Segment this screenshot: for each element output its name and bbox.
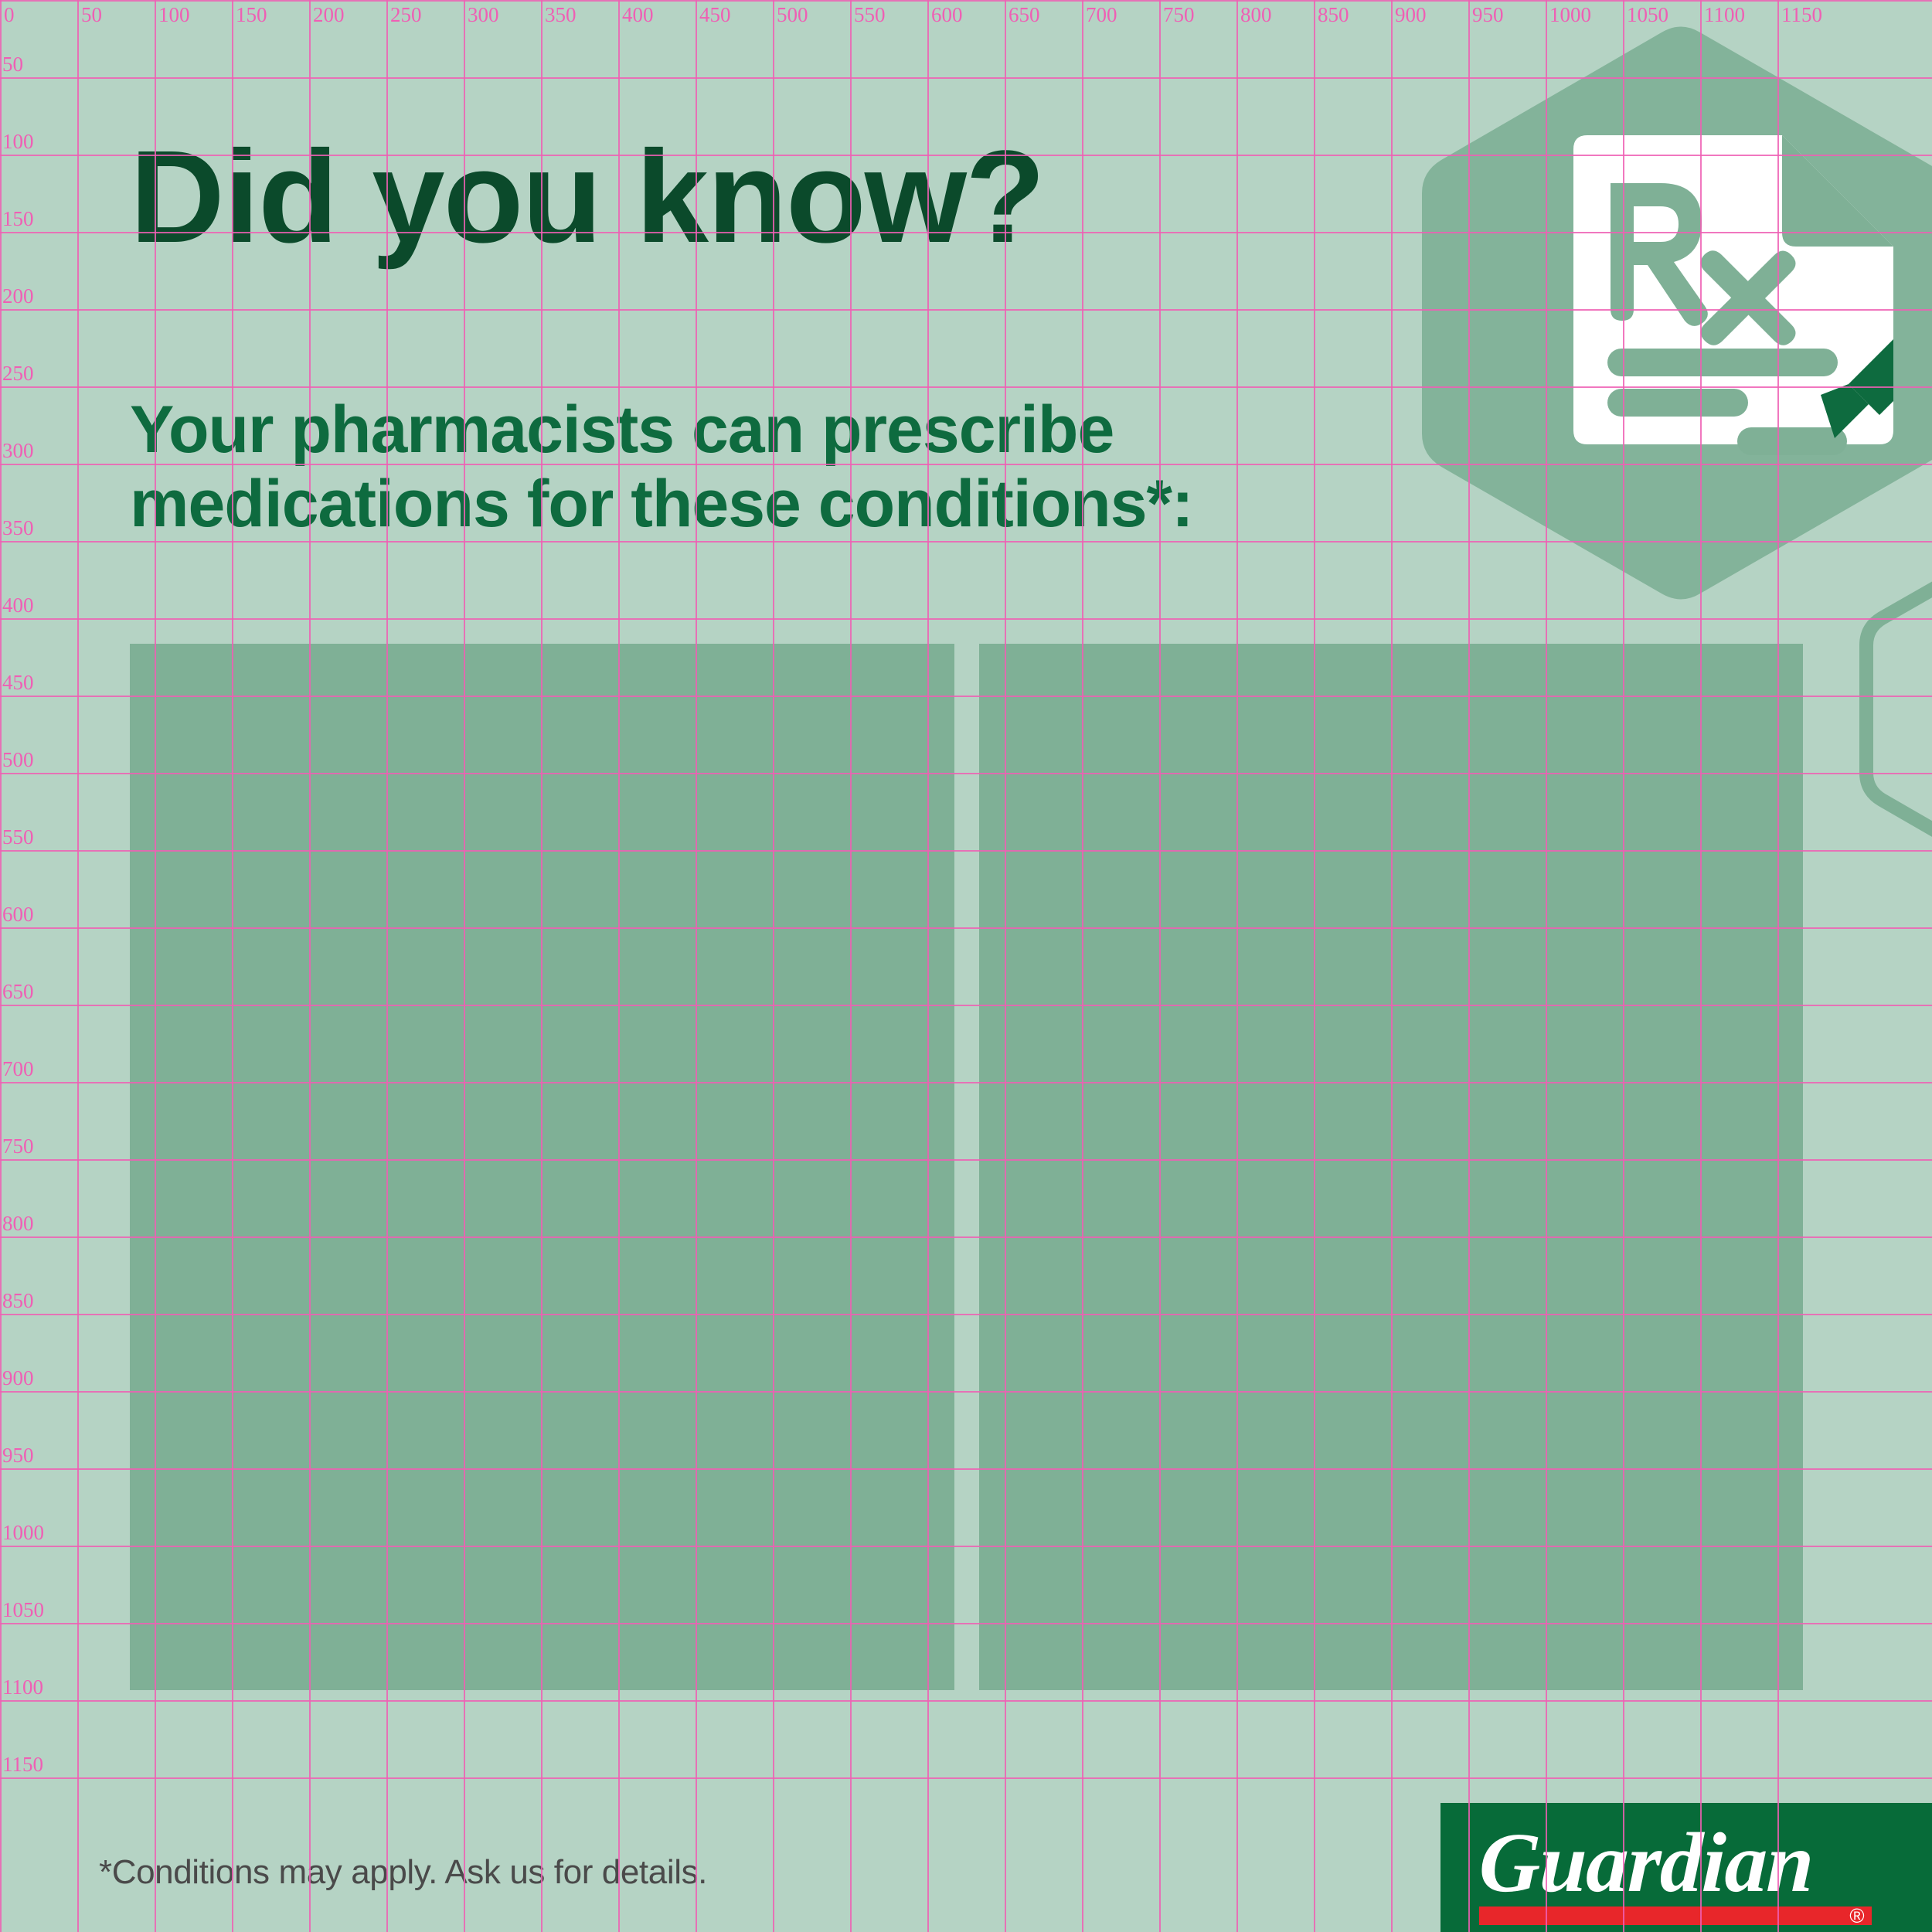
grid-label-y: 800 (2, 1213, 34, 1234)
grid-line-horizontal (0, 1700, 1932, 1702)
grid-line-vertical (77, 0, 79, 1932)
grid-label-x: 900 (1391, 5, 1427, 26)
grid-label-x: 300 (464, 5, 499, 26)
grid-label-x: 100 (155, 5, 190, 26)
grid-label-x: 1050 (1623, 5, 1668, 26)
grid-label-x: 750 (1159, 5, 1195, 26)
grid-label-y: 200 (2, 286, 34, 307)
grid-label-x: 150 (232, 5, 267, 26)
prescription-document-with-pencil-icon (1561, 135, 1893, 460)
document-line-2 (1607, 389, 1748, 417)
grid-label-y: 250 (2, 363, 34, 384)
grid-label-x: 1000 (1546, 5, 1591, 26)
poster-canvas: Did you know? Your pharmacists can presc… (0, 0, 1932, 1932)
grid-label-y: 450 (2, 672, 34, 693)
page-subheading: Your pharmacists can prescribe medicatio… (130, 393, 1193, 542)
grid-label-x: 400 (618, 5, 654, 26)
grid-label-y: 700 (2, 1059, 34, 1080)
left-content-panel (130, 644, 954, 1690)
grid-label-x: 0 (0, 5, 15, 26)
grid-label-x: 200 (309, 5, 345, 26)
grid-label-y: 950 (2, 1445, 34, 1466)
grid-label-y: 50 (2, 54, 23, 75)
grid-label-x: 350 (541, 5, 577, 26)
grid-label-y: 400 (2, 595, 34, 616)
grid-label-y: 1000 (2, 1522, 44, 1543)
grid-label-x: 800 (1236, 5, 1272, 26)
grid-line-horizontal (0, 0, 1932, 2)
guardian-wordmark: Guardian (1478, 1820, 1815, 1905)
right-content-panel (979, 644, 1803, 1690)
grid-label-x: 50 (77, 5, 102, 26)
grid-label-x: 250 (386, 5, 422, 26)
hexagon-outline-decoration (1866, 536, 1932, 883)
grid-label-y: 500 (2, 750, 34, 770)
grid-label-x: 450 (696, 5, 731, 26)
footnote-disclaimer: *Conditions may apply. Ask us for detail… (99, 1853, 707, 1892)
document-folded-corner (1782, 135, 1893, 247)
page-title: Did you know? (130, 131, 1044, 263)
grid-label-x: 650 (1005, 5, 1040, 26)
grid-label-y: 850 (2, 1291, 34, 1311)
grid-label-y: 300 (2, 440, 34, 461)
grid-line-horizontal (0, 618, 1932, 620)
grid-label-x: 950 (1468, 5, 1504, 26)
registered-trademark-icon: ® (1847, 1906, 1867, 1926)
grid-label-y: 750 (2, 1136, 34, 1157)
guardian-logo: Guardian ® (1440, 1803, 1932, 1932)
grid-label-y: 1150 (2, 1754, 43, 1775)
grid-label-y: 1100 (2, 1677, 43, 1698)
grid-label-y: 600 (2, 904, 34, 925)
grid-line-horizontal (0, 1777, 1932, 1779)
grid-label-x: 1100 (1700, 5, 1745, 26)
grid-label-x: 600 (927, 5, 963, 26)
grid-label-x: 700 (1082, 5, 1117, 26)
document-line-1 (1607, 349, 1838, 376)
grid-label-y: 900 (2, 1368, 34, 1389)
grid-label-y: 350 (2, 518, 34, 539)
grid-label-y: 550 (2, 827, 34, 848)
guardian-red-rule (1479, 1906, 1872, 1925)
grid-line-vertical (0, 0, 2, 1932)
grid-label-y: 100 (2, 131, 34, 152)
document-signature-line (1737, 427, 1847, 455)
grid-label-y: 650 (2, 981, 34, 1002)
grid-label-x: 500 (773, 5, 808, 26)
grid-label-x: 550 (850, 5, 886, 26)
grid-label-x: 1150 (1777, 5, 1822, 26)
grid-label-x: 850 (1314, 5, 1349, 26)
grid-line-horizontal (0, 77, 1932, 79)
grid-label-y: 150 (2, 209, 34, 230)
grid-label-y: 1050 (2, 1600, 44, 1621)
